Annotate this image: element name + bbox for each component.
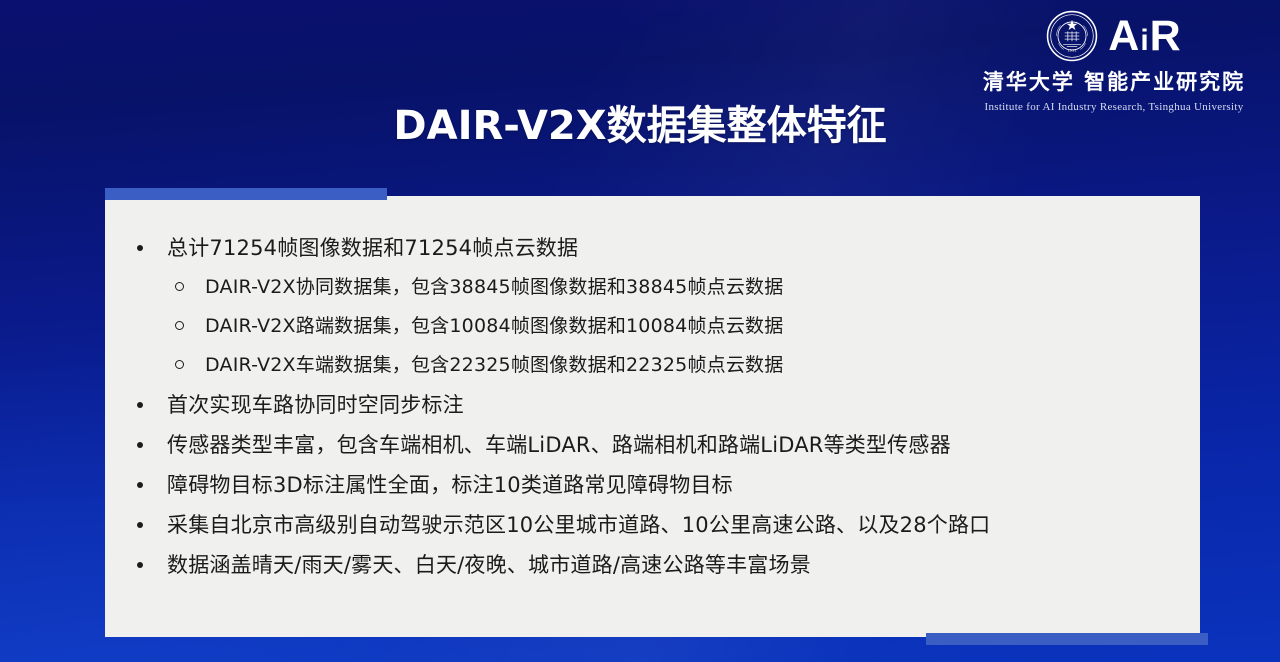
list-item: 数据涵盖晴天/雨天/雾天、白天/夜晚、城市道路/高速公路等丰富场景 (133, 545, 1182, 585)
bullet-dot-icon (137, 385, 167, 425)
list-item: 传感器类型丰富，包含车端相机、车端LiDAR、路端相机和路端LiDAR等类型传感… (133, 425, 1182, 465)
list-item: 总计71254帧图像数据和71254帧点云数据 (133, 228, 1182, 268)
list-item-text: 首次实现车路协同时空同步标注 (167, 385, 1182, 425)
bullet-circle-icon (175, 268, 205, 307)
bullet-dot-icon-glyph (137, 562, 143, 568)
bullet-circle-icon (175, 307, 205, 346)
bullet-dot-icon-glyph (137, 482, 143, 488)
logo-institute-cn: 智能产业研究院 (1084, 70, 1245, 94)
bullet-dot-icon-glyph (137, 402, 143, 408)
bullet-dot-icon-glyph (137, 522, 143, 528)
logo-university-cn: 清华大学 (983, 70, 1075, 94)
list-item-text: 总计71254帧图像数据和71254帧点云数据 (167, 228, 1182, 268)
bullet-circle-icon-glyph (175, 360, 184, 369)
list-item-text: 传感器类型丰富，包含车端相机、车端LiDAR、路端相机和路端LiDAR等类型传感… (167, 425, 1182, 465)
list-item-text: 障碍物目标3D标注属性全面，标注10类道路常见障碍物目标 (167, 465, 1182, 505)
bullet-dot-icon (137, 465, 167, 505)
bullet-dot-icon-glyph (137, 442, 143, 448)
bullet-circle-icon (175, 346, 205, 385)
list-item: 首次实现车路协同时空同步标注 (133, 385, 1182, 425)
list-item-text: DAIR-V2X协同数据集，包含38845帧图像数据和38845帧点云数据 (205, 268, 1182, 307)
bullet-circle-icon-glyph (175, 282, 184, 291)
list-item-text: 数据涵盖晴天/雨天/雾天、白天/夜晚、城市道路/高速公路等丰富场景 (167, 545, 1182, 585)
list-item-text: DAIR-V2X路端数据集，包含10084帧图像数据和10084帧点云数据 (205, 307, 1182, 346)
bullet-dot-icon (137, 505, 167, 545)
list-item: 采集自北京市高级别自动驾驶示范区10公里城市道路、10公里高速公路、以及28个路… (133, 505, 1182, 545)
bullet-dot-icon (137, 545, 167, 585)
bullet-list: 总计71254帧图像数据和71254帧点云数据DAIR-V2X协同数据集，包含3… (133, 228, 1182, 585)
list-item: DAIR-V2X车端数据集，包含22325帧图像数据和22325帧点云数据 (133, 346, 1182, 385)
accent-bar-bottom-right (926, 633, 1208, 645)
accent-bar-top-left (105, 188, 387, 200)
svg-text:1911: 1911 (1068, 49, 1077, 53)
list-item-text: 采集自北京市高级别自动驾驶示范区10公里城市道路、10公里高速公路、以及28个路… (167, 505, 1182, 545)
logo-chinese-name: 清华大学 智能产业研究院 (964, 66, 1264, 96)
bullet-dot-icon-glyph (137, 245, 143, 251)
list-item: DAIR-V2X路端数据集，包含10084帧图像数据和10084帧点云数据 (133, 307, 1182, 346)
logo-row: 1911 AiR (964, 8, 1264, 64)
bullet-circle-icon-glyph (175, 321, 184, 330)
bullet-dot-icon (137, 425, 167, 465)
tsinghua-seal-icon: 1911 (1046, 10, 1098, 62)
presentation-slide: 1911 AiR 清华大学 智能产业研究院 Institute for AI I… (0, 0, 1280, 662)
air-wordmark: AiR (1108, 15, 1181, 58)
page-title: DAIR-V2X数据集整体特征 (0, 93, 1280, 151)
bullet-dot-icon (137, 228, 167, 268)
list-item: DAIR-V2X协同数据集，包含38845帧图像数据和38845帧点云数据 (133, 268, 1182, 307)
list-item-text: DAIR-V2X车端数据集，包含22325帧图像数据和22325帧点云数据 (205, 346, 1182, 385)
list-item: 障碍物目标3D标注属性全面，标注10类道路常见障碍物目标 (133, 465, 1182, 505)
content-card: 总计71254帧图像数据和71254帧点云数据DAIR-V2X协同数据集，包含3… (105, 196, 1200, 637)
